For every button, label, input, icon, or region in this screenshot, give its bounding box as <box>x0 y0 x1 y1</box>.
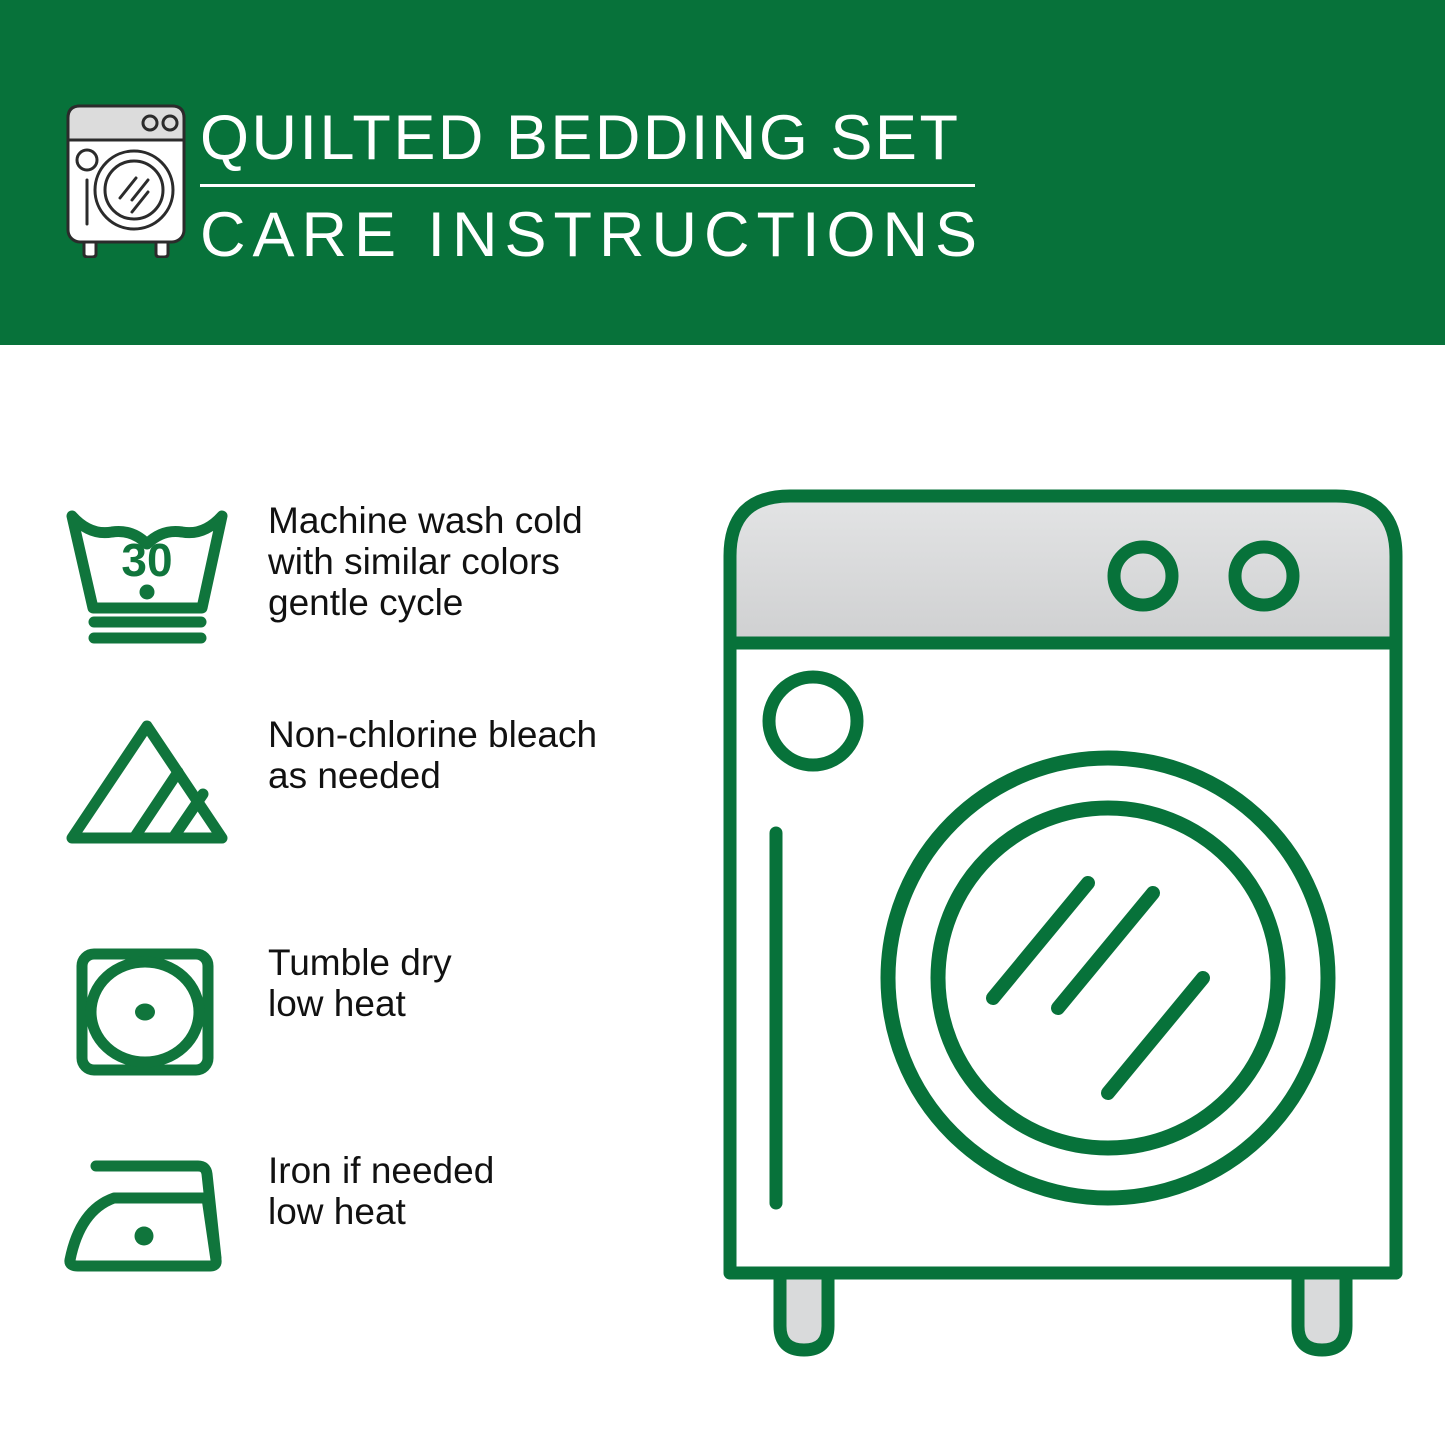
instruction-line: Machine wash cold <box>268 500 583 541</box>
instruction-line: gentle cycle <box>268 582 583 623</box>
instruction-text-machine-wash: Machine wash cold with similar colors ge… <box>268 498 583 623</box>
leg-left <box>780 1273 828 1350</box>
instruction-line: low heat <box>268 983 452 1024</box>
page-title: QUILTED BEDDING SET <box>200 100 1000 176</box>
header-title-group: QUILTED BEDDING SET CARE INSTRUCTIONS <box>200 100 1000 273</box>
drum-outer-ring <box>888 758 1328 1198</box>
front-load-washing-machine-illustration <box>718 478 1408 1363</box>
instruction-row-bleach: Non-chlorine bleach as needed <box>60 712 700 852</box>
instruction-line: low heat <box>268 1191 494 1232</box>
drum-stripe-3 <box>1108 978 1203 1093</box>
instruction-line: Tumble dry <box>268 942 452 983</box>
instruction-line: as needed <box>268 755 597 796</box>
leg-right <box>1298 1273 1346 1350</box>
instruction-line: Non-chlorine bleach <box>268 714 597 755</box>
instruction-line: Iron if needed <box>268 1150 494 1191</box>
instruction-row-iron: Iron if needed low heat <box>60 1148 700 1278</box>
title-divider <box>200 184 975 187</box>
detergent-knob <box>769 677 857 765</box>
wash-temperature-label: 30 <box>121 534 172 586</box>
tumble-dry-low-heat-icon <box>60 940 240 1085</box>
care-instructions-page: QUILTED BEDDING SET CARE INSTRUCTIONS 30… <box>0 0 1445 1445</box>
header-band: QUILTED BEDDING SET CARE INSTRUCTIONS <box>0 0 1445 345</box>
iron-low-heat-icon <box>60 1148 240 1278</box>
instruction-text-bleach: Non-chlorine bleach as needed <box>268 712 597 796</box>
instruction-line: with similar colors <box>268 541 583 582</box>
non-chlorine-bleach-triangle-icon <box>60 712 240 852</box>
instruction-text-iron: Iron if needed low heat <box>268 1148 494 1232</box>
page-subtitle: CARE INSTRUCTIONS <box>200 197 1000 273</box>
instruction-row-tumble-dry: Tumble dry low heat <box>60 940 700 1085</box>
instruction-text-tumble-dry: Tumble dry low heat <box>268 940 452 1024</box>
washing-machine-icon <box>62 98 190 258</box>
instruction-row-machine-wash: 30 Machine wash cold with similar colors… <box>60 498 700 648</box>
wash-basin-30-gentle-icon: 30 <box>60 498 240 648</box>
